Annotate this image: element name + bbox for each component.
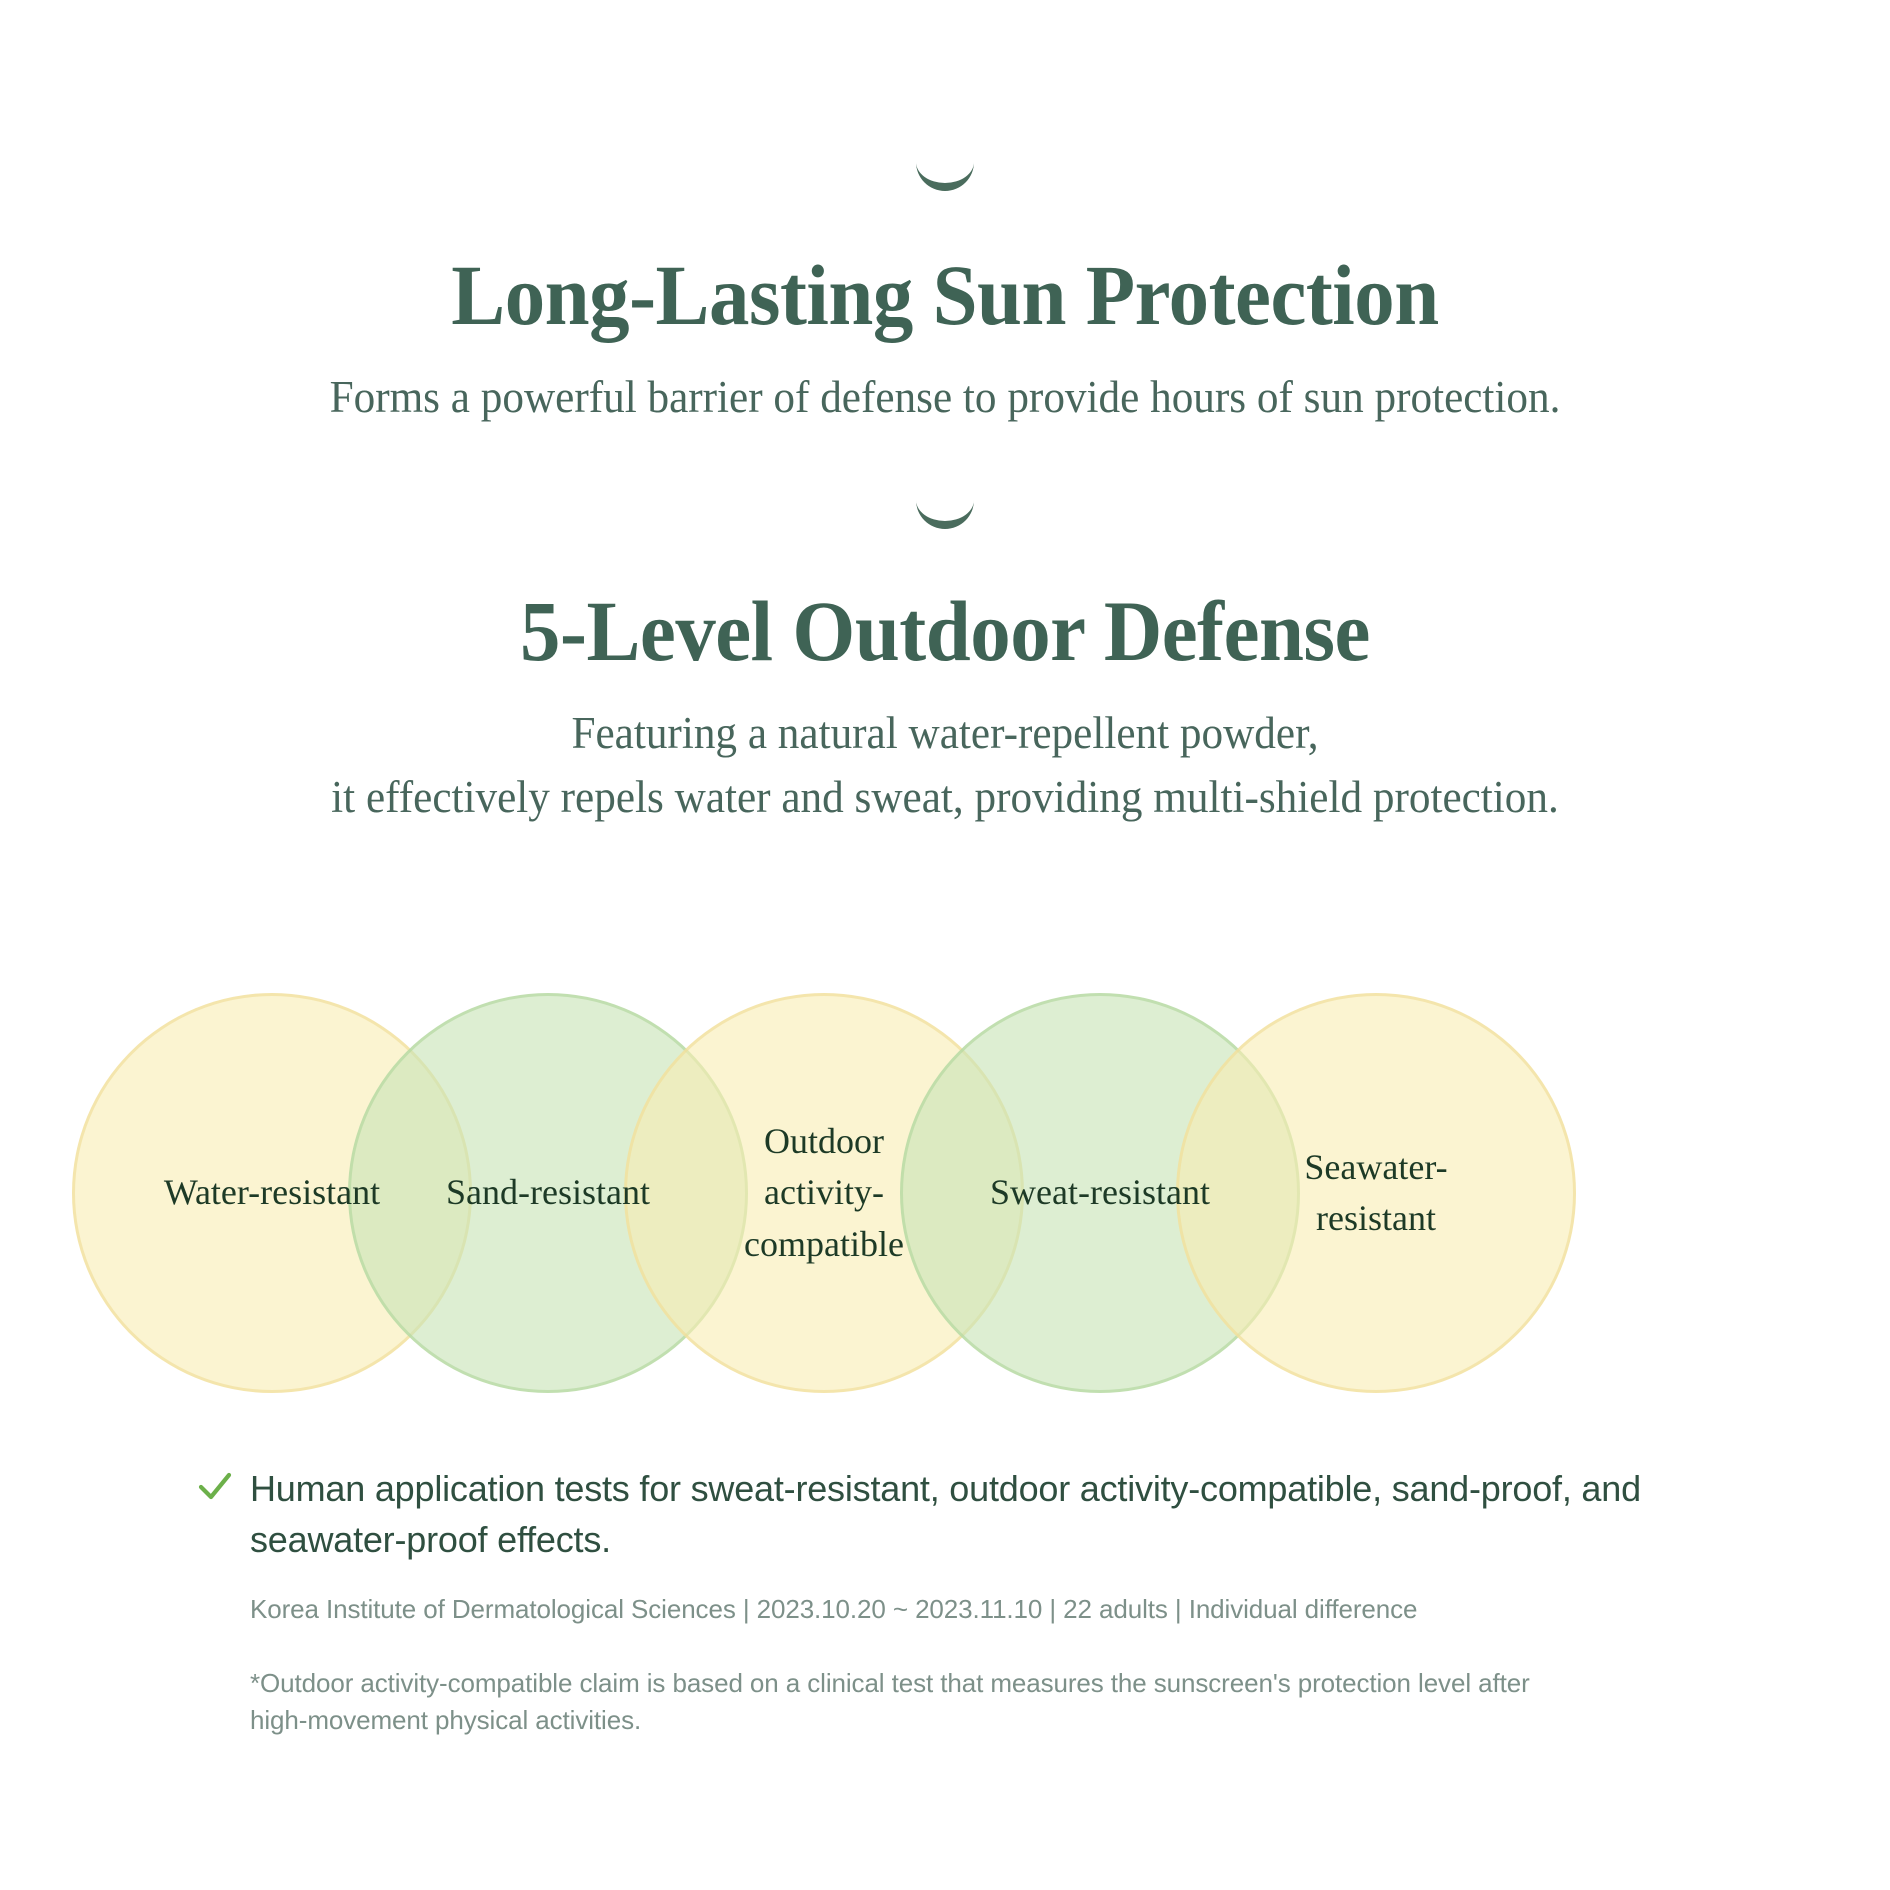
page-title: Long-Lasting Sun Protection: [57, 250, 1834, 340]
study-meta-text: Korea Institute of Dermatological Scienc…: [250, 1591, 1540, 1628]
benefit-circle-seawater-resistant: Seawater-resistant: [1176, 993, 1576, 1393]
benefit-circle-label: Seawater-resistant: [1281, 1142, 1471, 1244]
clinical-claim-row: Human application tests for sweat-resist…: [198, 1463, 1678, 1565]
crescent-moon-icon: [908, 152, 982, 226]
section-two-subtitle-line-2: it effectively repels water and sweat, p…: [38, 766, 1852, 830]
section-5-level-outdoor-defense: 5-Level Outdoor Defense Featuring a natu…: [0, 490, 1890, 830]
footnotes-block: Human application tests for sweat-resist…: [198, 1463, 1678, 1766]
section-long-lasting-sun-protection: Long-Lasting Sun Protection Forms a powe…: [0, 152, 1890, 427]
benefit-circles-row: Water-resistant Sand-resistant Outdoor a…: [0, 993, 1890, 1403]
promo-page: Long-Lasting Sun Protection Forms a powe…: [0, 0, 1890, 1890]
clinical-claim-text: Human application tests for sweat-resist…: [250, 1463, 1670, 1565]
benefit-circle-label: Water-resistant: [164, 1167, 380, 1218]
section-one-subtitle: Forms a powerful barrier of defense to p…: [38, 368, 1852, 427]
disclaimer-text: *Outdoor activity-compatible claim is ba…: [250, 1665, 1580, 1740]
check-icon: [198, 1471, 232, 1511]
benefit-circle-label: Outdoor activity-compatible: [739, 1116, 909, 1269]
section-two-title: 5-Level Outdoor Defense: [57, 586, 1834, 676]
section-two-subtitle: Featuring a natural water-repellent powd…: [38, 702, 1852, 830]
benefit-circle-label: Sand-resistant: [446, 1167, 650, 1218]
crescent-moon-icon: [908, 490, 982, 564]
section-two-subtitle-line-1: Featuring a natural water-repellent powd…: [38, 702, 1852, 766]
benefit-circle-label: Sweat-resistant: [990, 1167, 1210, 1218]
